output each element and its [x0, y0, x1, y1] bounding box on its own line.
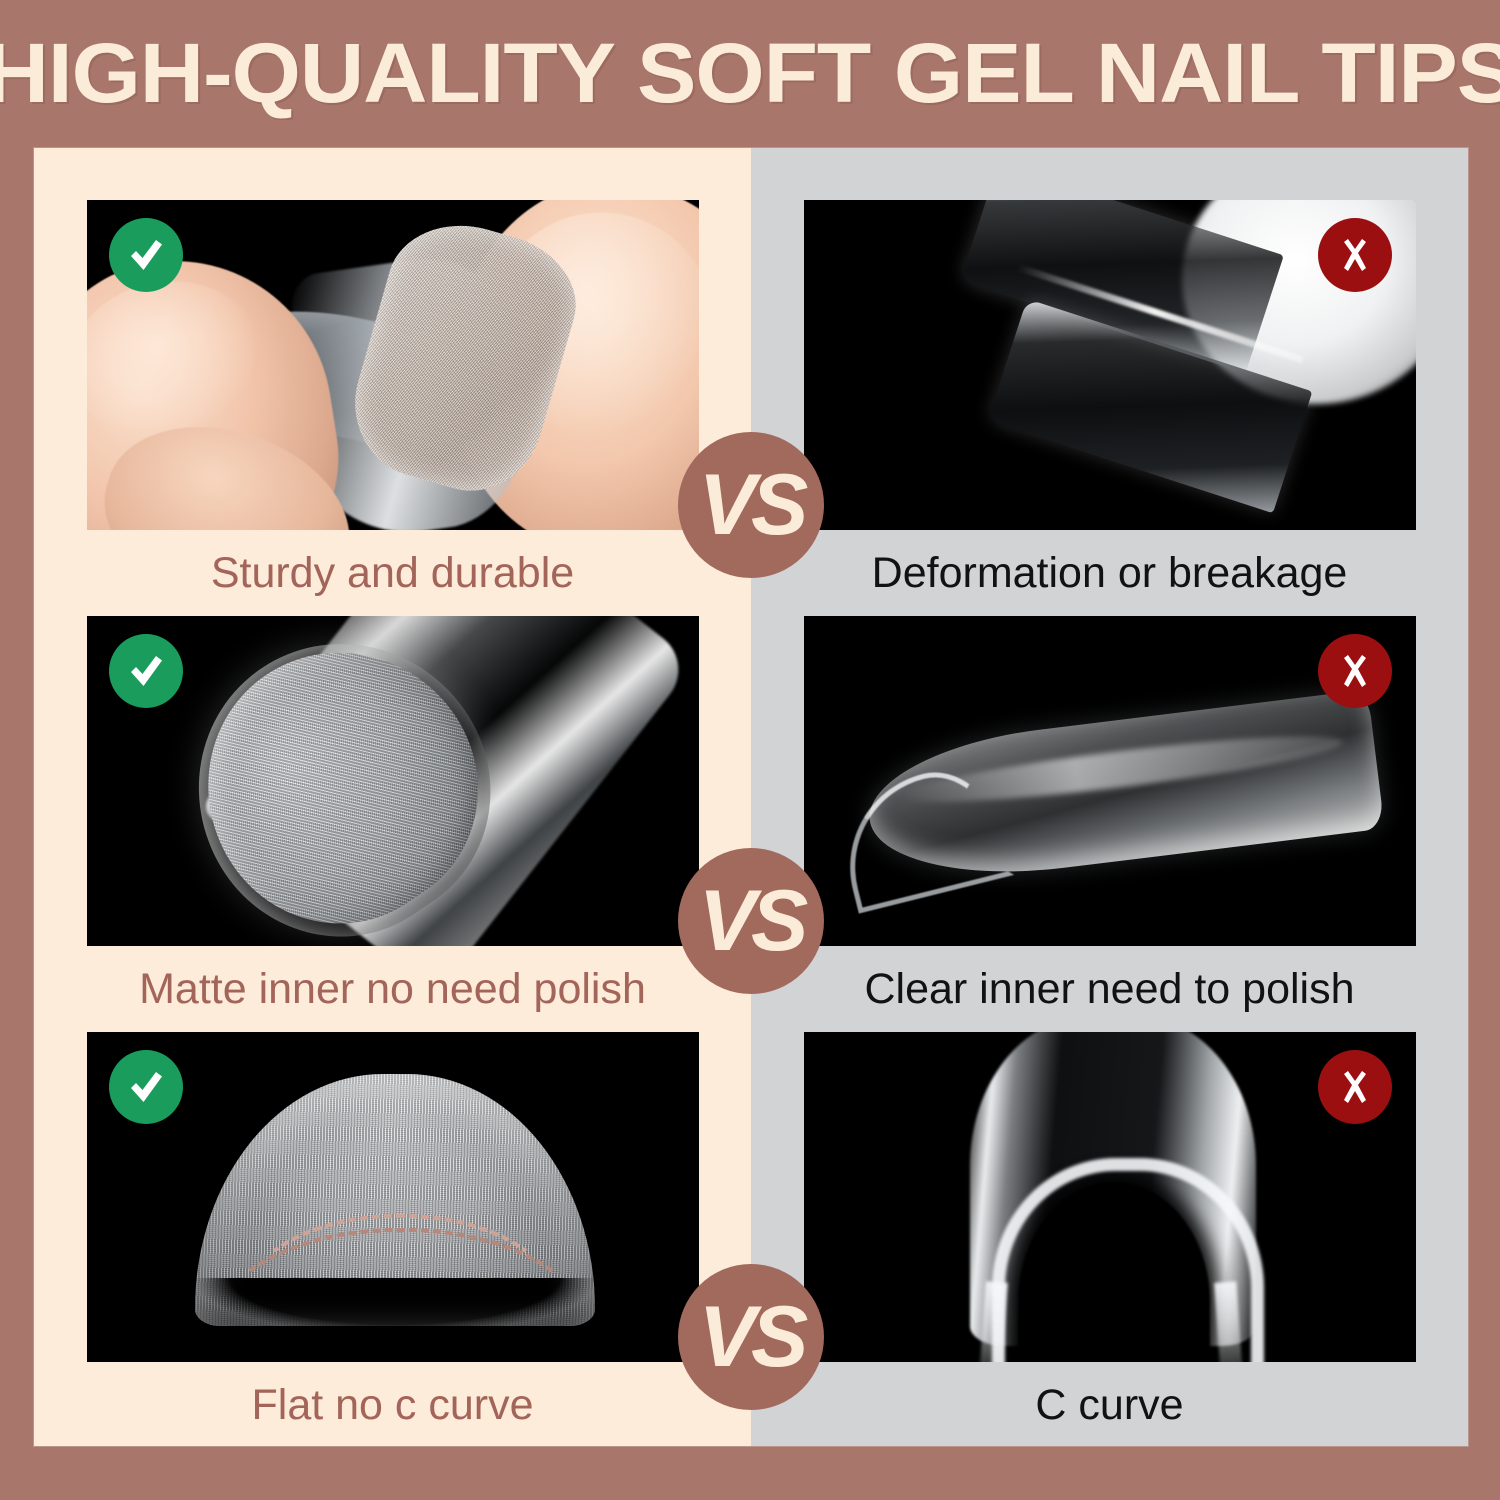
caption-bad-2: Clear inner need to polish [751, 946, 1468, 1032]
caption-bad-1: Deformation or breakage [751, 530, 1468, 616]
bad-column: Deformation or breakage Clear inner need… [751, 148, 1468, 1446]
caption-bad-3: C curve [751, 1362, 1468, 1448]
check-icon [109, 634, 183, 708]
photo-c-curve [804, 1032, 1416, 1362]
page-title: HIGH-QUALITY SOFT GEL NAIL TIPS [0, 31, 1500, 115]
good-cell-1: Sturdy and durable [34, 200, 751, 616]
good-column: Sturdy and durable Matte inner no need p… [34, 148, 751, 1446]
check-icon [109, 1050, 183, 1124]
check-icon [109, 218, 183, 292]
bad-cell-3: C curve [751, 1032, 1468, 1448]
photo-matte-inner [87, 616, 699, 946]
comparison-board: Sturdy and durable Matte inner no need p… [34, 148, 1468, 1446]
header-bar: HIGH-QUALITY SOFT GEL NAIL TIPS [0, 0, 1500, 146]
caption-good-1: Sturdy and durable [34, 530, 751, 616]
cross-icon [1318, 634, 1392, 708]
photo-clear-inner [804, 616, 1416, 946]
vs-badge-row-1: VS [678, 432, 824, 578]
vs-badge-row-3: VS [678, 1264, 824, 1410]
photo-sturdy-durable [87, 200, 699, 530]
infographic-page: HIGH-QUALITY SOFT GEL NAIL TIPS [0, 0, 1500, 1500]
cross-icon [1318, 218, 1392, 292]
good-cell-2: Matte inner no need polish [34, 616, 751, 1032]
cross-icon [1318, 1050, 1392, 1124]
caption-good-3: Flat no c curve [34, 1362, 751, 1448]
photo-deformation-breakage [804, 200, 1416, 530]
bad-cell-1: Deformation or breakage [751, 200, 1468, 616]
photo-flat-no-c-curve [87, 1032, 699, 1362]
good-cell-3: Flat no c curve [34, 1032, 751, 1448]
caption-good-2: Matte inner no need polish [34, 946, 751, 1032]
bad-cell-2: Clear inner need to polish [751, 616, 1468, 1032]
vs-badge-row-2: VS [678, 848, 824, 994]
